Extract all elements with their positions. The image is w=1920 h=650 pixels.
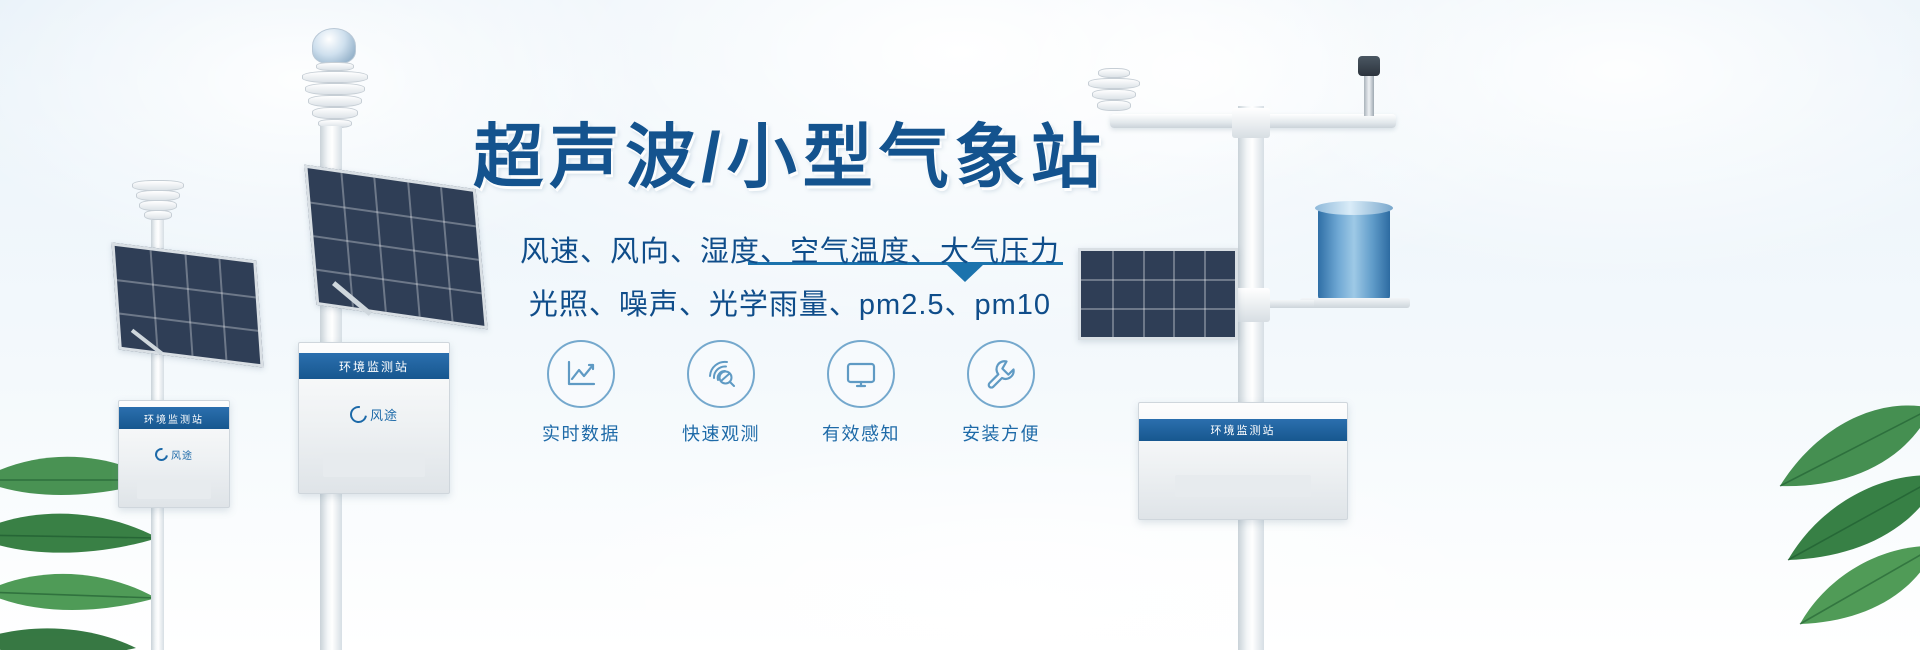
wrench-tool-icon [967, 340, 1035, 408]
banner-center-content: 超声波/小型气象站 风速、风向、湿度、空气温度、大气压力 光照、噪声、光学雨量、… [430, 0, 1150, 650]
optical-sensor-right-tip [1356, 56, 1382, 116]
enclosure-box-left-small: 环境监测站 风途 [118, 400, 230, 508]
enclosure-box-right: 环境监测站 [1138, 402, 1348, 520]
ultrasonic-sensor-large [302, 62, 368, 128]
feature-item-realtime-data[interactable]: 实时数据 [526, 340, 636, 446]
enclosure-label-bar-right: 环境监测站 [1139, 419, 1347, 441]
feature-label-fast-observation: 快速观测 [666, 420, 776, 446]
feature-item-effective-sensing[interactable]: 有效感知 [806, 340, 916, 446]
signal-radar-icon [687, 340, 755, 408]
feature-label-realtime-data: 实时数据 [526, 420, 636, 446]
banana-leaf-right [1640, 300, 1920, 650]
feature-label-easy-installation: 安装方便 [946, 420, 1056, 446]
page-title: 超声波/小型气象站 [430, 118, 1150, 196]
mast-pole-right [1238, 106, 1264, 650]
feature-list: 实时数据 快速观测 [526, 340, 1056, 460]
brand-logo-left-large: 风途 [299, 405, 449, 424]
solar-panel-left-small [111, 242, 263, 367]
bucket-shelf [1300, 298, 1410, 308]
radiation-dome-sensor [312, 28, 356, 64]
line-chart-icon [547, 340, 615, 408]
subtitle-line-2: 光照、噪声、光学雨量、pm2.5、pm10 [430, 288, 1150, 322]
mast-collar-upper [1232, 108, 1270, 138]
feature-item-fast-observation[interactable]: 快速观测 [666, 340, 776, 446]
brand-logo-left-small: 风途 [119, 447, 229, 462]
feature-item-easy-installation[interactable]: 安装方便 [946, 340, 1056, 446]
enclosure-box-left-large: 环境监测站 风途 [298, 342, 450, 494]
rain-gauge-bucket [1318, 208, 1390, 300]
enclosure-label-bar-left-large: 环境监测站 [299, 353, 449, 379]
enclosure-label-bar-left-small: 环境监测站 [119, 407, 229, 429]
subtitle-line-1: 风速、风向、湿度、空气温度、大气压力 [430, 235, 1150, 269]
monitor-screen-icon [827, 340, 895, 408]
ultrasonic-sensor-small [132, 180, 184, 222]
weather-station-left-small: 环境监测站 风途 [110, 180, 280, 650]
feature-label-effective-sensing: 有效感知 [806, 420, 916, 446]
product-banner: 环境监测站 风途 [0, 0, 1920, 650]
